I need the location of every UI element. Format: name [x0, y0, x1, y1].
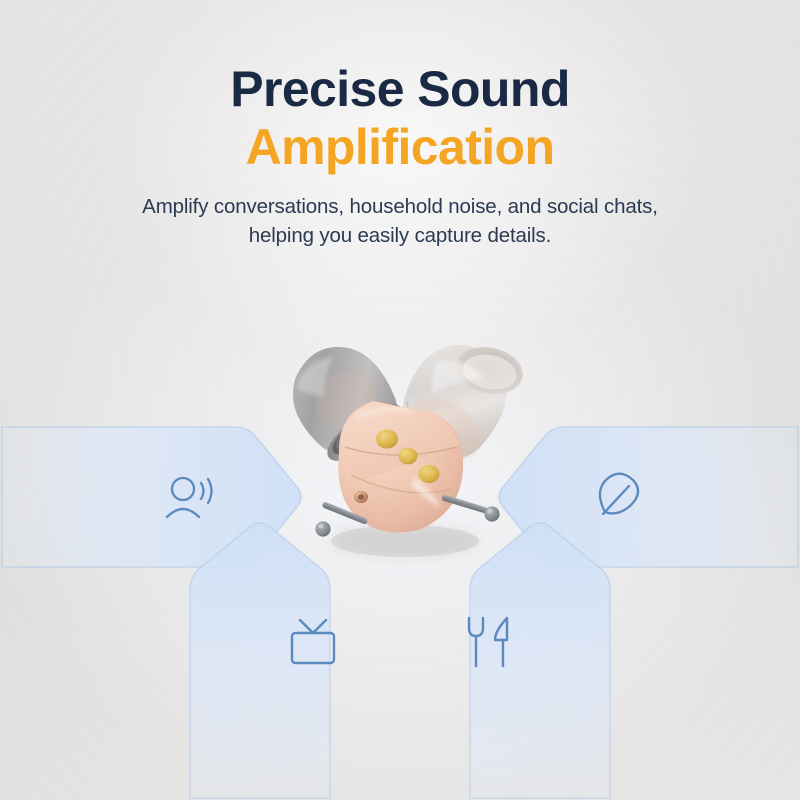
- gold-contact-2: [399, 448, 418, 465]
- hero-subtitle: Amplify conversations, household noise, …: [0, 192, 800, 250]
- page-title-line1: Precise Sound: [0, 60, 800, 118]
- person-soundwave-icon: [163, 473, 219, 521]
- page-title-line2: Amplification: [0, 118, 800, 176]
- gold-contact-3: [419, 465, 440, 483]
- hearing-aid-shell: [338, 401, 463, 532]
- promo-hero-canvas: Precise Sound Amplification Amplify conv…: [0, 0, 800, 800]
- removal-post-right: [441, 494, 499, 521]
- tv-icon: [288, 619, 338, 665]
- fork-knife-icon: [462, 617, 514, 667]
- hero-subtitle-line2: helping you easily capture details.: [0, 221, 800, 250]
- gold-contact-1: [376, 430, 398, 449]
- hero-text-block: Precise Sound Amplification Amplify conv…: [0, 60, 800, 250]
- hearing-aid-pair-image: [265, 305, 535, 570]
- leaf-icon: [597, 472, 641, 520]
- hero-subtitle-line1: Amplify conversations, household noise, …: [0, 192, 800, 221]
